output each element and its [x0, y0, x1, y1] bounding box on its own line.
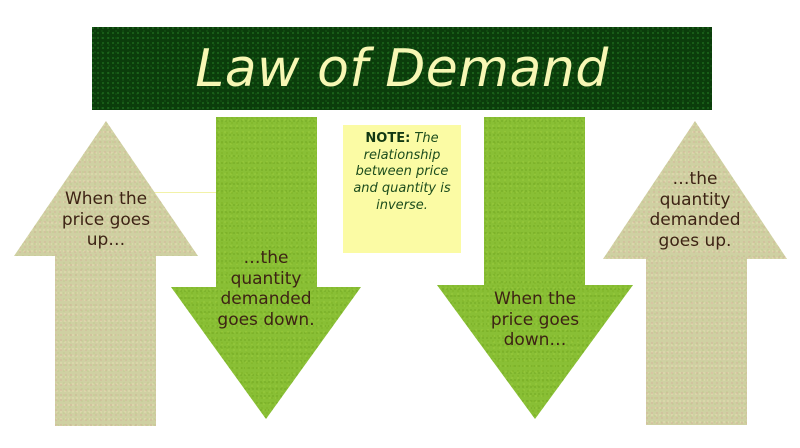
- arrow-shaft: [55, 254, 156, 426]
- law-of-demand-slide: Law of Demand When the price goes up… …t…: [0, 0, 800, 448]
- arrow-shaft: [484, 117, 585, 288]
- page-title: Law of Demand: [195, 43, 609, 95]
- note-separator: :: [405, 131, 410, 146]
- arrow-head-down-icon: [171, 287, 361, 419]
- arrow-up-quantity-increase: …the quantity demanded goes up.: [603, 121, 787, 425]
- note-label: NOTE: [365, 131, 405, 146]
- arrow-shaft: [646, 257, 747, 425]
- title-banner: Law of Demand: [92, 27, 712, 110]
- arrow-head-up-icon: [603, 121, 787, 259]
- arrow-down-quantity-decrease: …the quantity demanded goes down.: [171, 117, 361, 419]
- arrow-shaft: [216, 117, 317, 290]
